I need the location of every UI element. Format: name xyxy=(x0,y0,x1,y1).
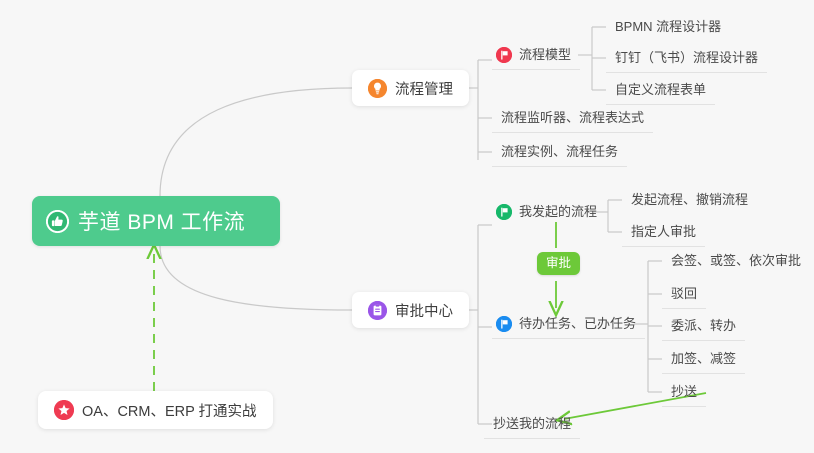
branch-node-approval-center[interactable]: 审批中心 xyxy=(352,292,469,328)
leaf-todo-done-tasks[interactable]: 待办任务、已办任务 xyxy=(492,309,645,339)
leaf-label-dingtalk-feishu-designer: 钉钉（飞书）流程设计器 xyxy=(615,50,758,65)
footnote-label: OA、CRM、ERP 打通实战 xyxy=(82,400,257,421)
leaf-process-model[interactable]: 流程模型 xyxy=(492,40,580,70)
flag-icon-green xyxy=(496,204,512,220)
flag-icon-red xyxy=(496,47,512,63)
leaf-label-custom-process-form: 自定义流程表单 xyxy=(615,82,706,97)
leaf-label-process-model: 流程模型 xyxy=(519,40,571,70)
approval-relation-badge[interactable]: 审批 xyxy=(537,252,580,275)
branch-label-process-management: 流程管理 xyxy=(395,78,453,99)
branch-label-approval-center: 审批中心 xyxy=(395,300,453,321)
leaf-label-cc-to-me-process: 抄送我的流程 xyxy=(493,416,571,431)
leaf-label-add-remove-sign: 加签、减签 xyxy=(671,351,736,366)
leaf-reject[interactable]: 驳回 xyxy=(662,279,706,309)
leaf-label-assignee-approval: 指定人审批 xyxy=(631,224,696,239)
leaf-label-countersign-orsign-sequential: 会签、或签、依次审批 xyxy=(671,253,801,268)
star-icon xyxy=(54,400,74,420)
leaf-cc[interactable]: 抄送 xyxy=(662,377,706,407)
leaf-label-reject: 驳回 xyxy=(671,286,697,301)
leaf-label-todo-done-tasks: 待办任务、已办任务 xyxy=(519,309,636,339)
thumbs-up-icon xyxy=(46,210,69,233)
leaf-label-my-initiated-process: 我发起的流程 xyxy=(519,197,597,227)
leaf-dingtalk-feishu-designer[interactable]: 钉钉（飞书）流程设计器 xyxy=(606,43,767,73)
leaf-label-delegate-transfer: 委派、转办 xyxy=(671,318,736,333)
approval-relation-label: 审批 xyxy=(546,256,571,270)
flag-icon-blue xyxy=(496,316,512,332)
leaf-my-initiated-process[interactable]: 我发起的流程 xyxy=(492,197,606,227)
leaf-cc-to-me-process[interactable]: 抄送我的流程 xyxy=(484,409,580,439)
leaf-start-cancel-process[interactable]: 发起流程、撤销流程 xyxy=(622,185,757,215)
leaf-add-remove-sign[interactable]: 加签、减签 xyxy=(662,344,745,374)
leaf-countersign-orsign-sequential[interactable]: 会签、或签、依次审批 xyxy=(662,246,810,276)
leaf-process-listener-expression[interactable]: 流程监听器、流程表达式 xyxy=(492,103,653,133)
leaf-label-process-listener-expression: 流程监听器、流程表达式 xyxy=(501,110,644,125)
mindmap-canvas: 芋道 BPM 工作流 流程管理 审批中心 xyxy=(0,0,814,453)
leaf-label-process-instance-task: 流程实例、流程任务 xyxy=(501,144,618,159)
leaf-assignee-approval[interactable]: 指定人审批 xyxy=(622,217,705,247)
lightbulb-icon xyxy=(368,79,387,98)
root-node[interactable]: 芋道 BPM 工作流 xyxy=(32,196,280,246)
clipboard-icon xyxy=(368,301,387,320)
root-label: 芋道 BPM 工作流 xyxy=(78,206,245,236)
leaf-label-bpmn-designer: BPMN 流程设计器 xyxy=(615,19,721,34)
leaf-label-start-cancel-process: 发起流程、撤销流程 xyxy=(631,192,748,207)
leaf-label-cc: 抄送 xyxy=(671,384,697,399)
leaf-bpmn-designer[interactable]: BPMN 流程设计器 xyxy=(606,12,730,42)
footnote-node-oa-crm-erp[interactable]: OA、CRM、ERP 打通实战 xyxy=(38,391,273,429)
leaf-process-instance-task[interactable]: 流程实例、流程任务 xyxy=(492,137,627,167)
branch-node-process-management[interactable]: 流程管理 xyxy=(352,70,469,106)
leaf-delegate-transfer[interactable]: 委派、转办 xyxy=(662,311,745,341)
leaf-custom-process-form[interactable]: 自定义流程表单 xyxy=(606,75,715,105)
